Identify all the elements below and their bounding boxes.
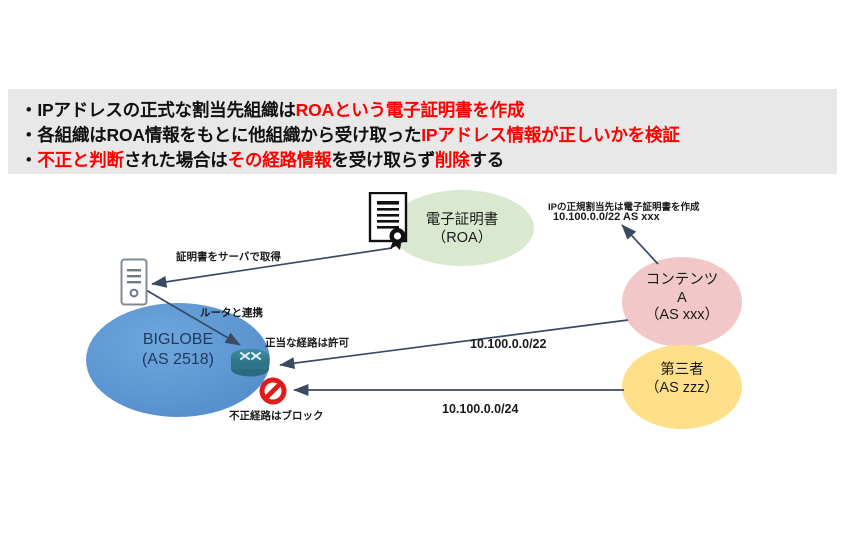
server-icon <box>120 258 148 306</box>
callout-line-1-segment-1: IPアドレスの正式な割当先組織は <box>37 100 295 120</box>
callout-line-2-segment-1: 各組織はROA情報をもとに他組織から受け取った <box>37 125 421 145</box>
node-third-party-ellipse <box>622 345 742 429</box>
callout-line-3: ・不正と判断された場合はその経路情報を受け取らず削除する <box>20 147 504 172</box>
callout-line-2-segment-2: IPアドレス情報が正しいかを検証 <box>421 125 679 145</box>
node-contents-a-ellipse <box>622 257 742 347</box>
no-entry-icon <box>258 376 288 406</box>
annotation-route-prefix-valid: 10.100.0.0/22 <box>470 337 546 351</box>
network-diagram: 電子証明書 （ROA） BIGLOBE (AS 2518) コンテンツ A （A… <box>0 180 860 460</box>
bullet-marker: ・ <box>20 150 37 170</box>
callout-line-3-segment-1: 不正と判断 <box>37 150 124 170</box>
callout-line-3-segment-2: された場合は <box>124 150 228 170</box>
arrow-contents-to-ipnote <box>622 225 658 264</box>
callout-line-1: ・IPアドレスの正式な割当先組織はROAという電子証明書を作成 <box>20 97 524 122</box>
annotation-router-linkage: ルータと連携 <box>200 305 263 320</box>
summary-callout-box: ・IPアドレスの正式な割当先組織はROAという電子証明書を作成 ・各組織はROA… <box>8 89 837 174</box>
annotation-allow-valid-route: 正当な経路は許可 <box>265 335 349 350</box>
callout-line-3-segment-5: 削除 <box>435 150 470 170</box>
certificate-icon <box>368 192 414 250</box>
callout-line-3-segment-4: を受け取らず <box>331 150 434 170</box>
annotation-block-invalid-route: 不正経路はブロック <box>229 408 324 423</box>
annotation-ip-allocation-prefix: 10.100.0.0/22 AS xxx <box>553 211 660 223</box>
callout-line-3-segment-3: その経路情報 <box>228 150 332 170</box>
callout-line-2: ・各組織はROA情報をもとに他組織から受け取ったIPアドレス情報が正しいかを検証 <box>20 122 680 147</box>
annotation-get-certificate: 証明書をサーバで取得 <box>176 249 281 264</box>
callout-line-1-segment-2: ROAという電子証明書を作成 <box>296 100 525 120</box>
callout-line-3-segment-6: する <box>470 150 505 170</box>
annotation-route-prefix-invalid: 10.100.0.0/24 <box>442 402 518 416</box>
router-icon <box>228 345 272 377</box>
diagram-vector-layer <box>0 180 860 460</box>
bullet-marker: ・ <box>20 125 37 145</box>
slide-canvas: ・IPアドレスの正式な割当先組織はROAという電子証明書を作成 ・各組織はROA… <box>0 0 860 538</box>
bullet-marker: ・ <box>20 100 37 120</box>
